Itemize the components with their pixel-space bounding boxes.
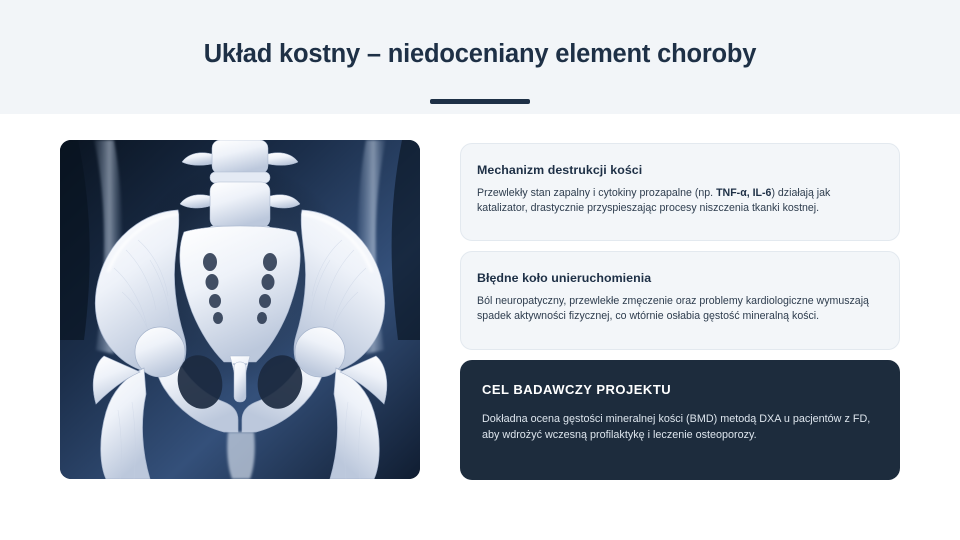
card-cel-badawczy-projektu: CEL BADAWCZY PROJEKTU Dokładna ocena gęs… <box>460 360 900 480</box>
card-heading: CEL BADAWCZY PROJEKTU <box>482 382 874 397</box>
card-heading: Mechanizm destrukcji kości <box>477 163 877 177</box>
card-body: Ból neuropatyczny, przewlekłe zmęczenie … <box>477 294 877 325</box>
card-body-emphasis: TNF-α, IL-6 <box>716 187 771 199</box>
card-body: Przewlekły stan zapalny i cytokiny proza… <box>477 186 877 217</box>
card-bledne-kolo-unieruchomienia: Błędne koło unieruchomienia Ból neuropat… <box>460 251 900 350</box>
card-heading: Błędne koło unieruchomienia <box>477 271 877 285</box>
card-mechanizm-destrukcji-kosci: Mechanizm destrukcji kości Przewlekły st… <box>460 143 900 241</box>
card-body-part-1: Przewlekły stan zapalny i cytokiny proza… <box>477 187 716 199</box>
title-accent-underline <box>430 99 530 104</box>
card-body: Dokładna ocena gęstości mineralnej kości… <box>482 411 874 444</box>
slide-root: Układ kostny – niedoceniany element chor… <box>0 0 960 540</box>
page-title: Układ kostny – niedoceniany element chor… <box>0 40 960 69</box>
pelvis-illustration-svg <box>60 140 420 479</box>
pelvis-xray-illustration <box>60 140 420 479</box>
